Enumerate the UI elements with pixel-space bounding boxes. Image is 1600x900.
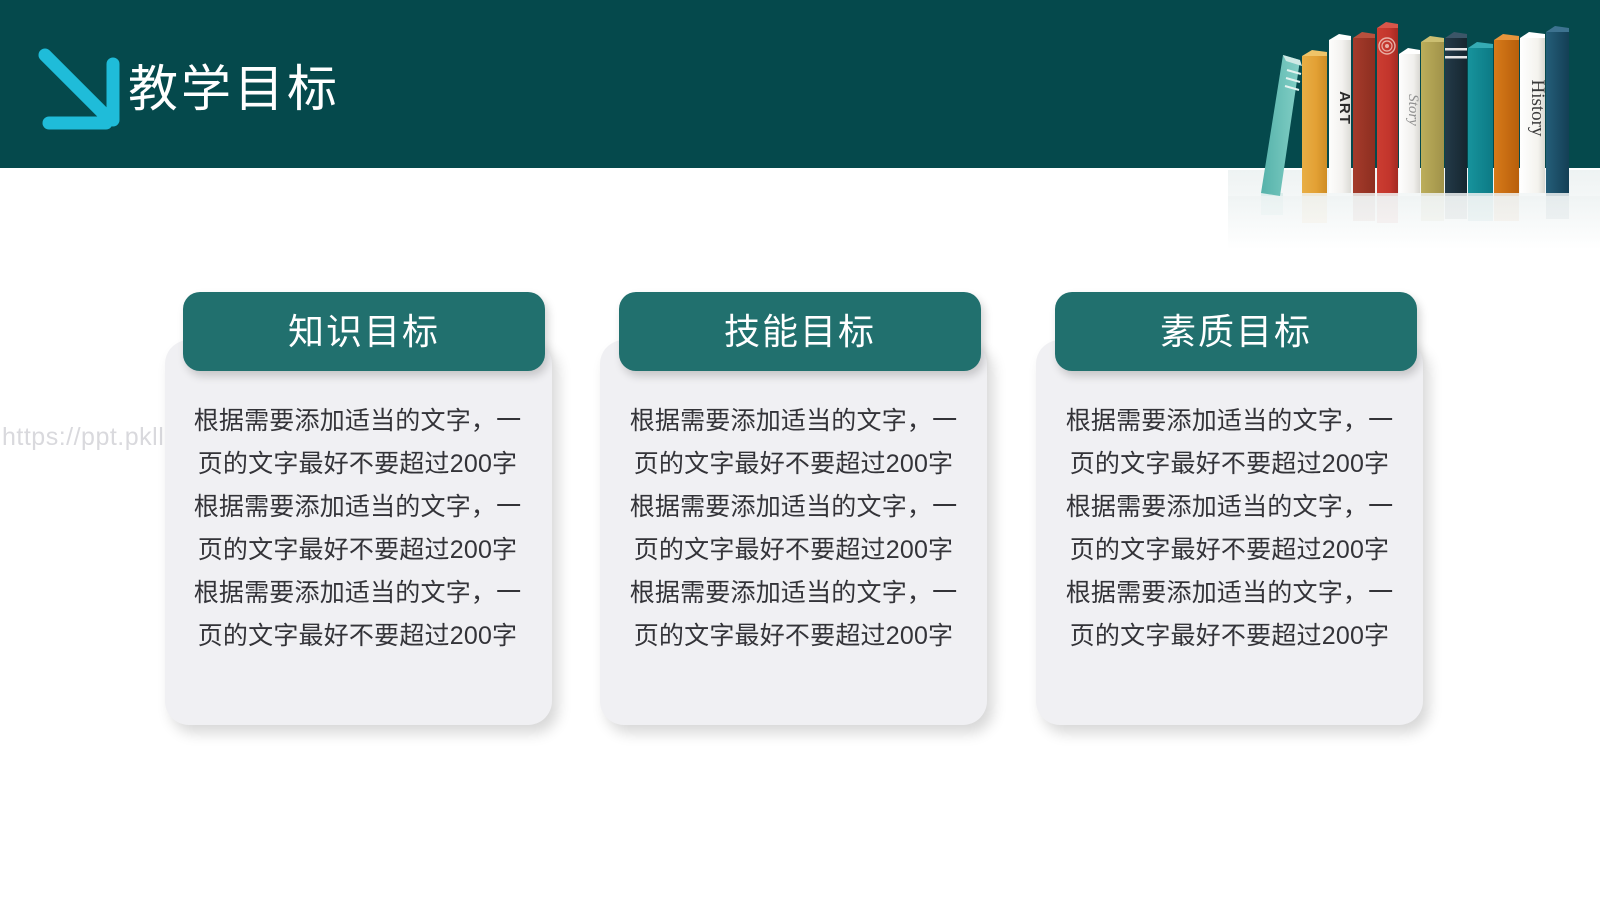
- goal-card-body: 根据需要添加适当的文字，一页的文字最好不要超过200字根据需要添加适当的文字，一…: [187, 400, 528, 658]
- goal-card-title: 技能目标: [724, 312, 876, 352]
- goal-card-quality[interactable]: 根据需要添加适当的文字，一页的文字最好不要超过200字根据需要添加适当的文字，一…: [1036, 340, 1423, 725]
- goal-card-header-quality[interactable]: 素质目标: [1055, 292, 1417, 371]
- goal-card-header-skill[interactable]: 技能目标: [619, 292, 981, 371]
- goal-card-body: 根据需要添加适当的文字，一页的文字最好不要超过200字根据需要添加适当的文字，一…: [1060, 400, 1399, 658]
- goal-card-knowledge[interactable]: 根据需要添加适当的文字，一页的文字最好不要超过200字根据需要添加适当的文字，一…: [165, 340, 552, 725]
- goal-card-title: 素质目标: [1160, 312, 1312, 352]
- goal-card-header-knowledge[interactable]: 知识目标: [183, 292, 545, 371]
- slide-canvas: 教学目标: [0, 0, 1600, 900]
- goals-card-group: 根据需要添加适当的文字，一页的文字最好不要超过200字根据需要添加适当的文字，一…: [0, 0, 1600, 900]
- goal-card-title: 知识目标: [288, 312, 440, 352]
- goal-card-skill[interactable]: 根据需要添加适当的文字，一页的文字最好不要超过200字根据需要添加适当的文字，一…: [600, 340, 987, 725]
- goal-card-body: 根据需要添加适当的文字，一页的文字最好不要超过200字根据需要添加适当的文字，一…: [624, 400, 963, 658]
